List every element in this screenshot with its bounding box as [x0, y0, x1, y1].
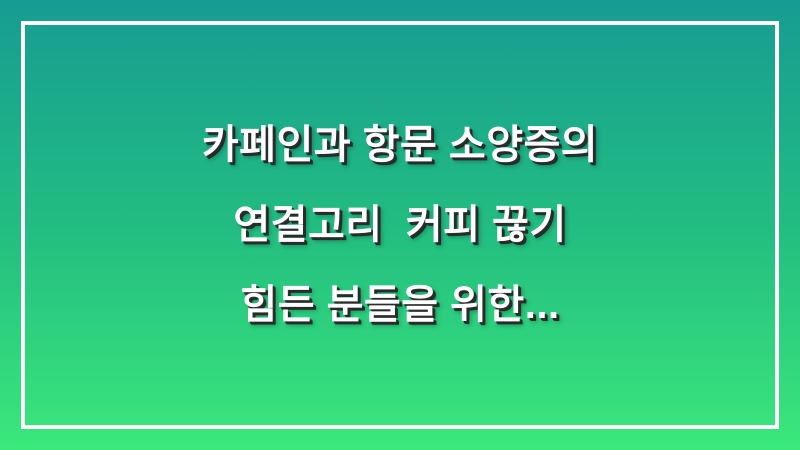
- title-line-2: 연결고리 커피 끊기: [50, 185, 750, 265]
- title-card: 카페인과 항문 소양증의 연결고리 커피 끊기 힘든 분들을 위한...: [0, 0, 800, 450]
- title-block: 카페인과 항문 소양증의 연결고리 커피 끊기 힘든 분들을 위한...: [0, 0, 800, 450]
- title-line-3: 힘든 분들을 위한...: [50, 265, 750, 345]
- title-line-1: 카페인과 항문 소양증의: [50, 105, 750, 185]
